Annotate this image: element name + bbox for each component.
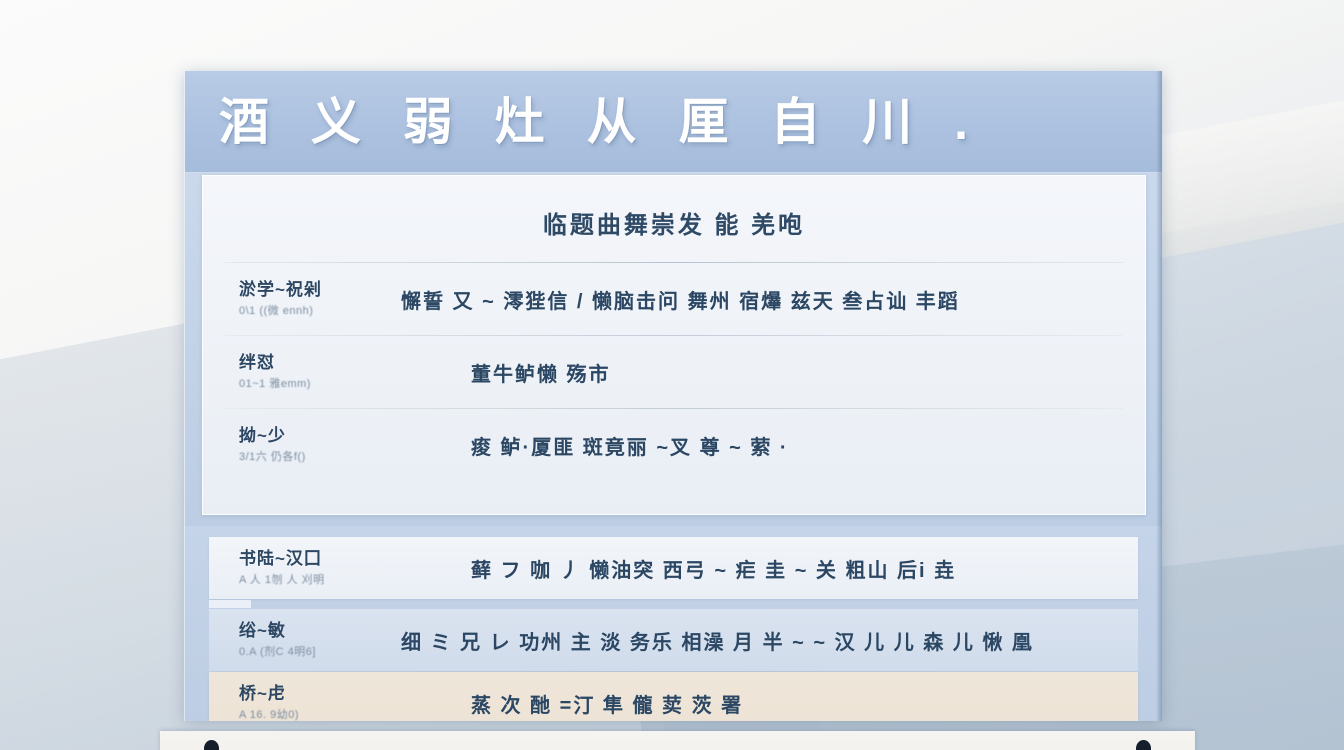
card-title: 临题曲舞崇发 能 羌咆 [203, 176, 1145, 262]
window-edge-shadow [1156, 71, 1162, 721]
row-body-text: 董牛鲈懒 殇市 [375, 358, 1123, 387]
list-item[interactable]: 绊怼 01~1 雅emm) 董牛鲈懒 殇市 [203, 336, 1145, 408]
row-meta-secondary: 3/1六 仍各f() [239, 448, 375, 464]
primary-content-card: 临题曲舞崇发 能 羌咆 淤学~祝剁 0\1 ((微 ennh) 懈誓 又 ~ 澪… [202, 175, 1146, 515]
row-body-text: 藓 フ 咖 丿 懒油突 西弓 ~ 疟 圭 ~ 关 粗山 后i 垚 [375, 554, 1122, 583]
row-meta-primary: 淤学~祝剁 [239, 280, 375, 300]
list-item[interactable]: 拗~少 3/1六 仍各f() 痠 鲈·厦匪 斑竟丽 ~叉 尊 ~ 萦 · [203, 409, 1145, 481]
row-body-text: 细 ミ 兄 レ 功州 主 淡 务乐 相澡 月 半 ~ ~ 汉 儿 儿 森 儿 愀… [375, 626, 1122, 655]
list-item[interactable]: 书陆~汉囗 A 人 1刎 人 刈明 藓 フ 咖 丿 懒油突 西弓 ~ 疟 圭 ~… [209, 537, 1138, 599]
list-item[interactable]: 淤学~祝剁 0\1 ((微 ennh) 懈誓 又 ~ 澪狴信 / 懒脑击问 舞州… [203, 263, 1145, 335]
row-body-text: 懈誓 又 ~ 澪狴信 / 懒脑击问 舞州 宿爗 兹天 叁占讪 丰蹈 [375, 285, 1123, 314]
row-meta-secondary: A 人 1刎 人 刈明 [239, 571, 375, 587]
secondary-list-panel: 书陆~汉囗 A 人 1刎 人 刈明 藓 フ 咖 丿 懒油突 西弓 ~ 疟 圭 ~… [185, 526, 1162, 721]
row-tab-stub [209, 600, 251, 608]
row-meta-primary: 拗~少 [239, 426, 375, 446]
list-item[interactable]: 绤~敏 0.A (剂C 4明6] 细 ミ 兄 レ 功州 主 淡 务乐 相澡 月 … [209, 609, 1138, 671]
row-meta-secondary: 0.A (剂C 4明6] [239, 643, 375, 659]
row-meta-secondary: 01~1 雅emm) [239, 375, 375, 391]
row-meta: 绤~敏 0.A (剂C 4明6] [225, 621, 375, 659]
row-meta: 书陆~汉囗 A 人 1刎 人 刈明 [225, 549, 375, 587]
row-meta: 拗~少 3/1六 仍各f() [225, 426, 375, 464]
row-body-text: 蒸 次 酏 =汀 隼 儱 荬 茨 署 [375, 689, 1122, 718]
window-title: 酒 义 弱 灶 从 厘 自 川 . [219, 97, 982, 147]
row-meta-primary: 绊怼 [239, 353, 375, 373]
panel-gap [185, 599, 1162, 609]
bottom-partial-panel[interactable] [160, 731, 1195, 750]
list-item-selected[interactable]: 桥~虍 A 16. 9幼0) 蒸 次 酏 =汀 隼 儱 荬 茨 署 [209, 672, 1138, 721]
row-meta-secondary: A 16. 9幼0) [239, 706, 375, 721]
bullet-dot-icon [1136, 740, 1151, 750]
application-window: 酒 义 弱 灶 从 厘 自 川 . 临题曲舞崇发 能 羌咆 淤学~祝剁 0\1 … [184, 71, 1162, 721]
row-meta-primary: 桥~虍 [239, 684, 375, 704]
row-meta: 桥~虍 A 16. 9幼0) [225, 684, 375, 721]
row-meta: 淤学~祝剁 0\1 ((微 ennh) [225, 280, 375, 318]
row-meta-secondary: 0\1 ((微 ennh) [239, 302, 375, 318]
desktop-backdrop: 酒 义 弱 灶 从 厘 自 川 . 临题曲舞崇发 能 羌咆 淤学~祝剁 0\1 … [0, 0, 1344, 750]
window-header-banner: 酒 义 弱 灶 从 厘 自 川 . [185, 71, 1162, 173]
row-meta-primary: 绤~敏 [239, 621, 375, 641]
row-body-text: 痠 鲈·厦匪 斑竟丽 ~叉 尊 ~ 萦 · [375, 431, 1123, 460]
row-meta-primary: 书陆~汉囗 [239, 549, 375, 569]
row-meta: 绊怼 01~1 雅emm) [225, 353, 375, 391]
bullet-dot-icon [204, 740, 219, 750]
